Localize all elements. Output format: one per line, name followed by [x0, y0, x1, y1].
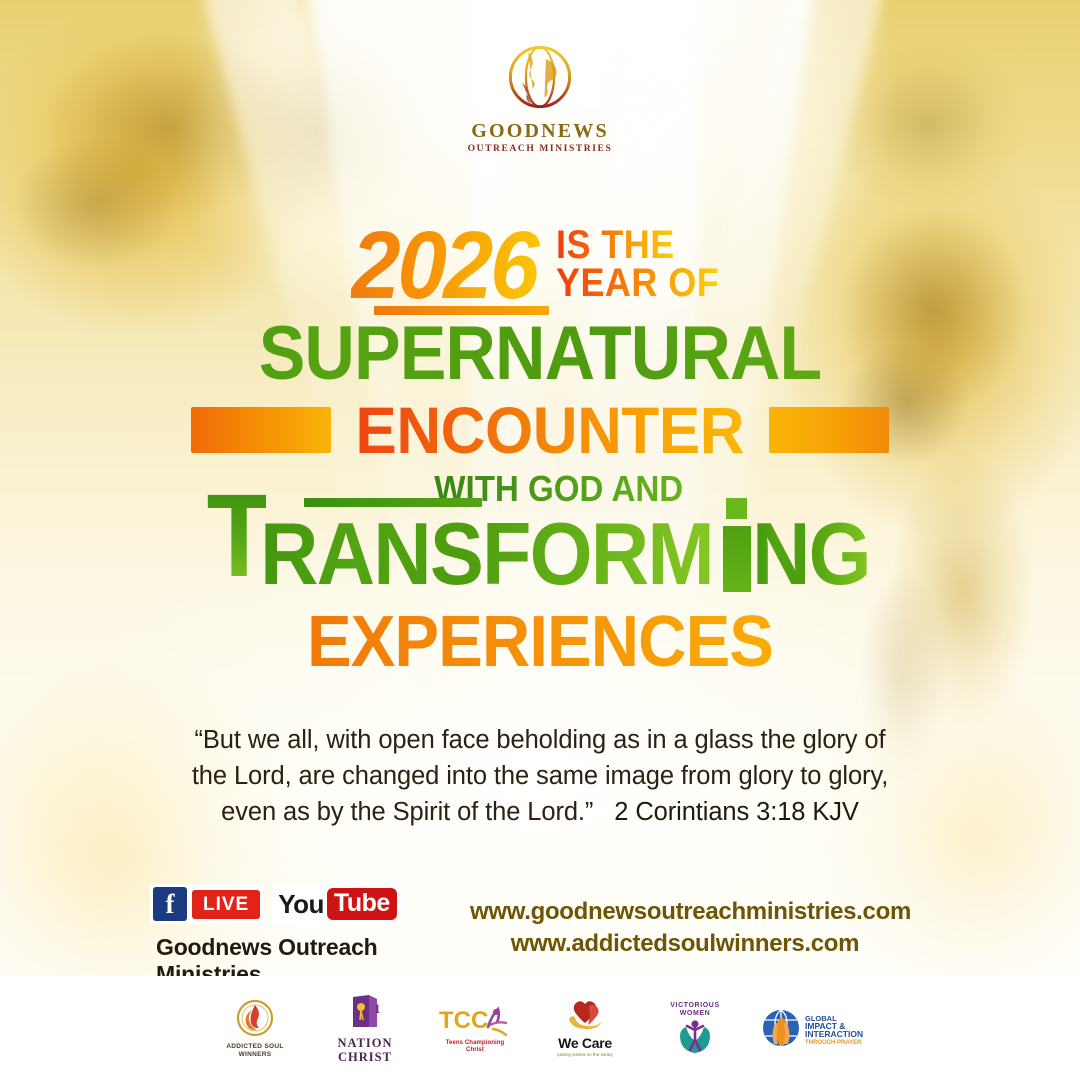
partner-label-line1: VICTORIOUS [670, 1002, 719, 1010]
headline-line-transforming: T RANSFORM NG [0, 504, 1080, 600]
heart-in-hand-icon [562, 999, 608, 1033]
youtube-badge[interactable]: You Tube [272, 884, 403, 923]
website-block: www.goodnewsoutreachministries.com www.a… [470, 896, 900, 959]
partner-we-care[interactable]: We Care putting smiles on the weary [537, 985, 633, 1071]
youtube-tube-icon: Tube [327, 888, 397, 919]
partner-nation-4-christ[interactable]: 1 NATION CHRIST [317, 985, 413, 1071]
woman-in-leaves-icon [673, 1017, 717, 1057]
headline-transforming-rest-a: RANSFORM [260, 510, 713, 598]
facebook-live-badge[interactable]: f LIVE [150, 884, 263, 924]
transforming-i-block [723, 526, 751, 592]
partner-label-line1: NATION [337, 1036, 392, 1050]
scripture-line-3-wrap: even as by the Spirit of the Lord.” 2 Co… [140, 794, 940, 830]
scripture-line-2: the Lord, are changed into the same imag… [140, 758, 940, 794]
partner-numeral: 1 [374, 1001, 381, 1016]
partner-addicted-soul-winners[interactable]: ADDICTED SOUL WINNERS [207, 985, 303, 1071]
globe-icon [503, 40, 577, 114]
tcc-dancer-icon: TCC [438, 1003, 512, 1037]
logo-name: GOODNEWS [471, 121, 609, 141]
headline-supernatural: SUPERNATURAL [43, 316, 1037, 392]
headline-year: 2026 [350, 222, 541, 310]
headline-transforming-rest-b: NG [752, 510, 870, 598]
partner-label-line1: We Care [557, 1036, 613, 1052]
headline-line-year: 2026 IS THE YEAR OF [0, 222, 1080, 318]
partner-label-line4: THROUGH PRAYER [805, 1040, 862, 1046]
scripture-quote: “But we all, with open face beholding as… [140, 722, 940, 831]
website-primary[interactable]: www.goodnewsoutreachministries.com [470, 896, 900, 928]
open-door-icon: 1 [347, 993, 383, 1033]
flyer-canvas: GOODNEWS OUTREACH MINISTRIES 2026 IS THE… [0, 0, 1080, 1080]
partner-label-line2: Teens Championing [446, 1040, 505, 1047]
partner-label-line2: WOMEN [670, 1010, 719, 1018]
partner-victorious-women[interactable]: VICTORIOUS WOMEN [647, 985, 743, 1071]
partner-label-line3: INTERACTION [805, 1029, 863, 1039]
partner-label-line3: Christ [446, 1047, 505, 1054]
encounter-bar-right [769, 407, 889, 453]
partner-label-line2: putting smiles on the weary [557, 1052, 613, 1057]
partner-label-line1: ADDICTED SOUL [226, 1043, 283, 1050]
headline-experiences: EXPERIENCES [38, 606, 1042, 678]
headline-is-the: IS THE [556, 226, 675, 264]
headline-line-encounter: ENCOUNTER [0, 394, 1080, 466]
partner-teens-championing-christ[interactable]: TCC Teens Championing Christ [427, 985, 523, 1071]
headline-block: 2026 IS THE YEAR OF SUPERNATURAL ENCOUNT… [0, 222, 1080, 678]
scripture-line-3: even as by the Spirit of the Lord.” [221, 798, 593, 826]
partner-label-line1: TCC [439, 1007, 488, 1034]
headline-transforming-t: T [206, 490, 265, 582]
logo-tagline: OUTREACH MINISTRIES [468, 145, 613, 155]
praying-hands-globe-icon: GLOBAL IMPACT & INTERACTION THROUGH PRAY… [759, 1008, 871, 1048]
facebook-icon: f [153, 887, 187, 921]
headline-year-of: YEAR OF [556, 264, 719, 302]
partner-logo-band: ADDICTED SOUL WINNERS 1 NATION CHRIST [0, 976, 1080, 1080]
ministry-logo: GOODNEWS OUTREACH MINISTRIES [0, 40, 1080, 155]
scripture-reference: 2 Corintians 3:18 KJV [614, 798, 859, 826]
transforming-i-dot [726, 498, 747, 519]
partner-global-impact-interaction[interactable]: GLOBAL IMPACT & INTERACTION THROUGH PRAY… [757, 985, 873, 1071]
live-badge: LIVE [192, 890, 260, 919]
social-block: f LIVE You Tube Goodnews Outreach Minist… [150, 884, 480, 988]
scripture-line-1: “But we all, with open face beholding as… [140, 722, 940, 758]
partner-label-line2: WINNERS [226, 1051, 283, 1058]
partner-label-line2: CHRIST [337, 1050, 392, 1064]
website-secondary[interactable]: www.addictedsoulwinners.com [470, 928, 900, 960]
encounter-bar-left [191, 407, 331, 453]
flame-circle-icon [235, 998, 275, 1040]
youtube-you-text: You [278, 891, 324, 917]
headline-encounter: ENCOUNTER [356, 397, 745, 463]
